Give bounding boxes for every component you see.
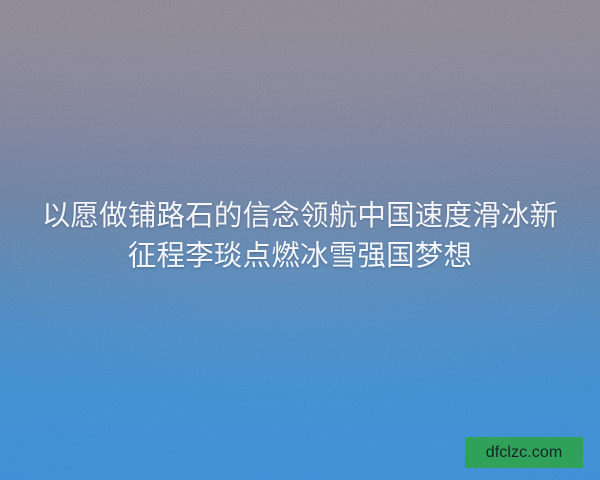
- watermark-badge: dfclzc.com: [465, 437, 583, 468]
- watermark-label: dfclzc.com: [486, 445, 563, 461]
- page-title: 以愿做铺路石的信念领航中国速度滑冰新 征程李琰点燃冰雪强国梦想: [0, 196, 600, 276]
- banner-image: 以愿做铺路石的信念领航中国速度滑冰新 征程李琰点燃冰雪强国梦想 dfclzc.c…: [0, 0, 600, 480]
